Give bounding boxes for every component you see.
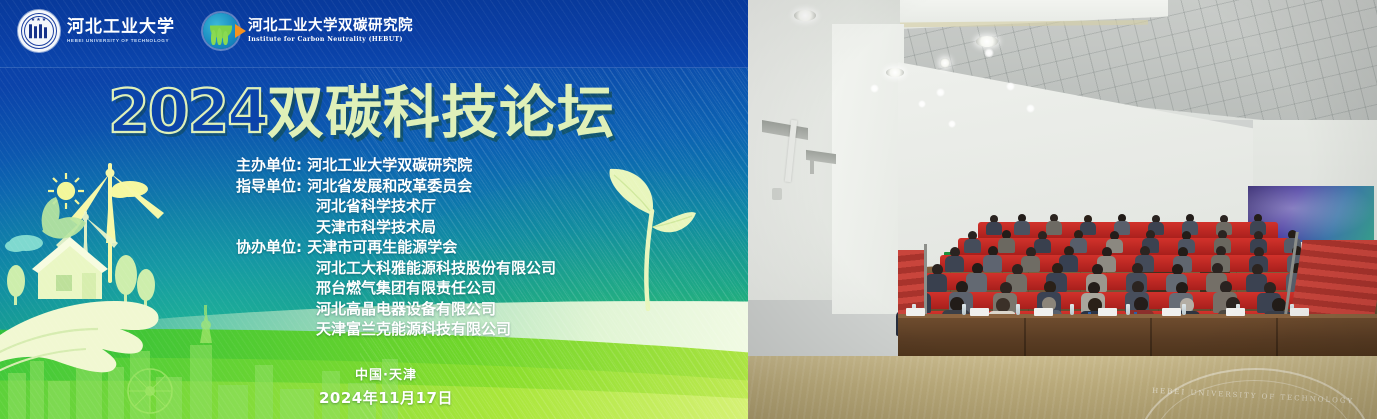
organizer-line: 天津市科学技术局 — [236, 217, 676, 238]
organizer-line: 天津富兰克能源科技有限公司 — [236, 319, 676, 340]
poster-organizer-list: 主办单位: 河北工业大学双碳研究院 指导单位: 河北省发展和改革委员会 河北省科… — [236, 155, 676, 340]
poster-title: 2024 双碳科技论坛 — [108, 84, 615, 141]
university-name-en: HEBEI UNIVERSITY OF TECHNOLOGY — [67, 39, 175, 44]
photo-vignette — [748, 0, 1377, 419]
university-seal-icon: ★★★ — [18, 10, 60, 52]
university-logo: ★★★ 河北工业大学 HEBEI UNIVERSITY OF TECHNOLOG… — [18, 10, 175, 52]
title-text: 双碳科技论坛 — [267, 84, 615, 141]
organizer-line: 指导单位: 河北省发展和改革委员会 — [236, 176, 676, 197]
poster-footer: 中国·天津 2024年11月17日 — [236, 366, 536, 410]
title-year: 2024 — [108, 84, 267, 141]
institute-name-cn: 河北工业大学双碳研究院 — [248, 19, 413, 34]
logo-row: ★★★ 河北工业大学 HEBEI UNIVERSITY OF TECHNOLOG… — [18, 10, 413, 52]
hand-holding-house-icon — [0, 151, 274, 401]
organizer-line: 河北工大科雅能源科技股份有限公司 — [236, 258, 676, 279]
institute-name-en: Institute for Carbon Neutrality (HEBUT) — [248, 37, 413, 43]
screenshot-root: ★★★ 河北工业大学 HEBEI UNIVERSITY OF TECHNOLOG… — [0, 0, 1377, 419]
organizer-line: 协办单位: 天津市可再生能源学会 — [236, 237, 676, 258]
event-location: 中国·天津 — [236, 366, 536, 386]
event-date: 2024年11月17日 — [236, 386, 536, 410]
organizer-line: 河北高晶电器设备有限公司 — [236, 299, 676, 320]
hand-icon — [0, 301, 159, 379]
university-name-cn: 河北工业大学 — [67, 19, 175, 36]
forum-poster: ★★★ 河北工业大学 HEBEI UNIVERSITY OF TECHNOLOG… — [0, 0, 748, 419]
organizer-line: 河北省科学技术厅 — [236, 196, 676, 217]
organizer-line: 邢台燃气集团有限责任公司 — [236, 278, 676, 299]
house-icon — [32, 237, 108, 299]
auditorium-photo: HEBEI UNIVERSITY OF TECHNOLOGY — [748, 0, 1377, 419]
carbon-neutrality-leaf-icon — [203, 13, 239, 49]
organizer-line: 主办单位: 河北工业大学双碳研究院 — [236, 155, 676, 176]
institute-logo: 河北工业大学双碳研究院 Institute for Carbon Neutral… — [203, 13, 413, 49]
